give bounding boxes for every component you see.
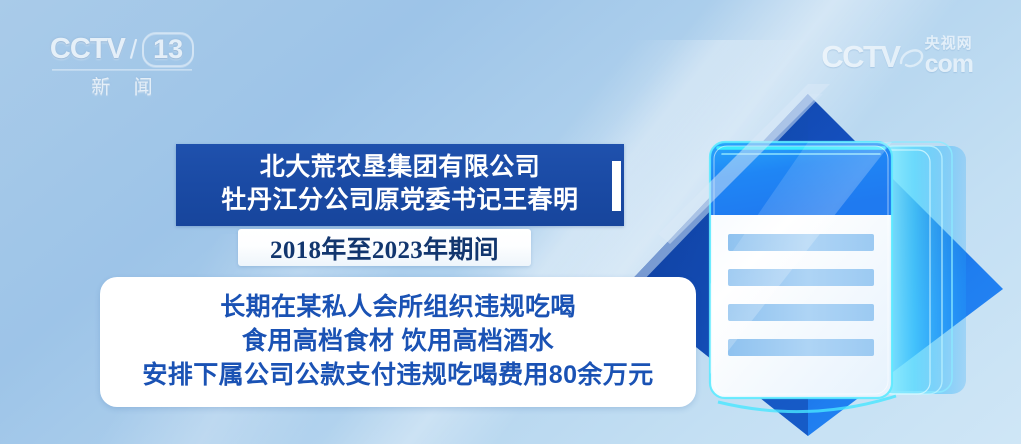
channel-bug-separator: / <box>130 34 137 65</box>
details-line-2: 食用高档食材 饮用高档酒水 <box>114 324 682 358</box>
watermark-cn-text: 央视网 <box>925 36 973 51</box>
date-range-pill: 2018年至2023年期间 <box>238 229 531 266</box>
banner-accent-bar <box>612 161 621 211</box>
broadcast-news-screen: CCTV / 13 新 闻 CCTV 央视网 com <box>0 0 1021 444</box>
headline-line-2: 牡丹江分公司原党委书记王春明 <box>186 184 614 217</box>
details-card: 长期在某私人会所组织违规吃喝 食用高档食材 饮用高档酒水 安排下属公司公款支付违… <box>100 277 696 407</box>
watermark-right-block: 央视网 com <box>925 36 973 77</box>
channel-name-label: 新 闻 <box>52 69 192 99</box>
cctv-com-watermark: CCTV 央视网 com <box>821 36 973 77</box>
watermark-com-text: com <box>925 52 973 77</box>
watermark-cctv-text: CCTV <box>821 39 899 75</box>
headline-banner: 北大荒农垦集团有限公司 牡丹江分公司原党委书记王春明 <box>176 144 624 226</box>
channel-bug-row: CCTV / 13 <box>52 32 192 67</box>
date-range-text: 2018年至2023年期间 <box>270 230 499 266</box>
channel-bug: CCTV / 13 新 闻 <box>52 32 192 99</box>
cctv-logo-text: CCTV <box>50 33 125 66</box>
details-line-3: 安排下属公司公款支付违规吃喝费用80余万元 <box>114 358 682 392</box>
details-line-1: 长期在某私人会所组织违规吃喝 <box>114 290 682 324</box>
headline-line-1: 北大荒农垦集团有限公司 <box>186 151 614 184</box>
swoosh-icon <box>898 42 924 72</box>
channel-number: 13 <box>142 32 194 67</box>
